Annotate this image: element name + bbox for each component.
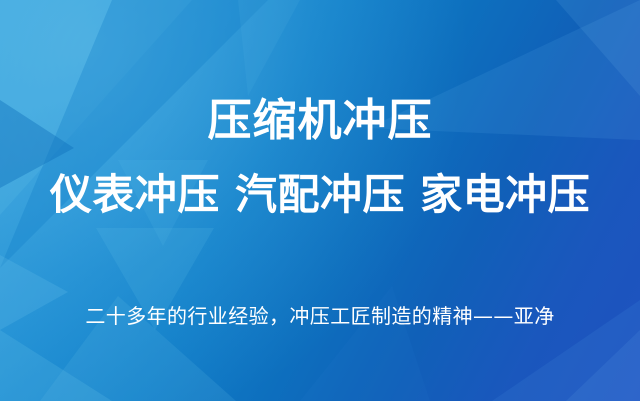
headline-sub: 仪表冲压 汽配冲压 家电冲压: [0, 172, 640, 217]
banner-content: 压缩机冲压 仪表冲压 汽配冲压 家电冲压 二十多年的行业经验，冲压工匠制造的精神…: [0, 0, 640, 401]
tagline: 二十多年的行业经验，冲压工匠制造的精神——亚净: [0, 303, 640, 329]
promo-banner: 压缩机冲压 仪表冲压 汽配冲压 家电冲压 二十多年的行业经验，冲压工匠制造的精神…: [0, 0, 640, 401]
headline-main: 压缩机冲压: [0, 98, 640, 145]
